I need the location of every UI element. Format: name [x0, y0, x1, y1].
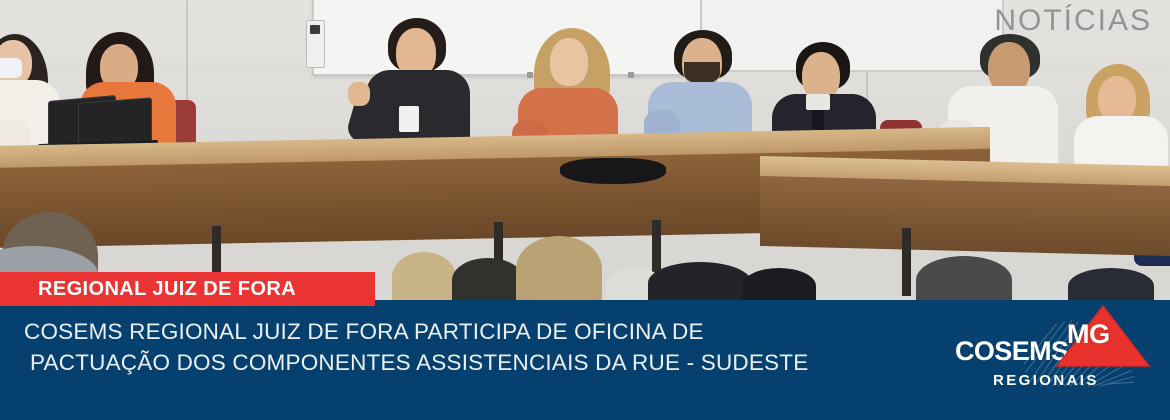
wall-socket: [527, 72, 533, 78]
audience-head: [1068, 268, 1154, 300]
news-photo: NOTÍCIAS: [0, 0, 1170, 300]
logo-mg-text: MG: [1067, 319, 1110, 350]
audience-head: [452, 258, 524, 300]
wall-dispenser: [306, 20, 325, 68]
headline-line-2: PACTUAÇÃO DOS COMPONENTES ASSISTENCIAIS …: [24, 347, 904, 378]
audience-head: [648, 262, 752, 300]
whiteboard: [312, 0, 716, 76]
logo-regionais-text: REGIONAIS: [993, 372, 1099, 389]
news-banner: NOTÍCIAS REGIONAL JUIZ DE FORA COSEMS RE…: [0, 0, 1170, 420]
bag-on-table: [560, 158, 666, 184]
audience-head: [392, 252, 456, 300]
audience-head: [742, 268, 816, 300]
audience-head: [516, 236, 602, 300]
audience-head: [916, 256, 1012, 300]
table-leg: [902, 228, 911, 296]
conference-table-front-right: [760, 176, 1170, 256]
cosems-mg-regionais-logo[interactable]: COSEMS MG REGIONAIS: [955, 318, 1155, 396]
headline[interactable]: COSEMS REGIONAL JUIZ DE FORA PARTICIPA D…: [24, 316, 904, 378]
logo-cosems-text: COSEMS: [955, 336, 1068, 367]
whiteboard-secondary: [700, 0, 1004, 72]
headline-line-1: COSEMS REGIONAL JUIZ DE FORA PARTICIPA D…: [24, 319, 704, 344]
category-badge-label: REGIONAL JUIZ DE FORA: [38, 278, 296, 301]
wall-socket: [628, 72, 634, 78]
microphone-flag: [399, 106, 419, 132]
category-badge[interactable]: REGIONAL JUIZ DE FORA: [0, 272, 375, 306]
